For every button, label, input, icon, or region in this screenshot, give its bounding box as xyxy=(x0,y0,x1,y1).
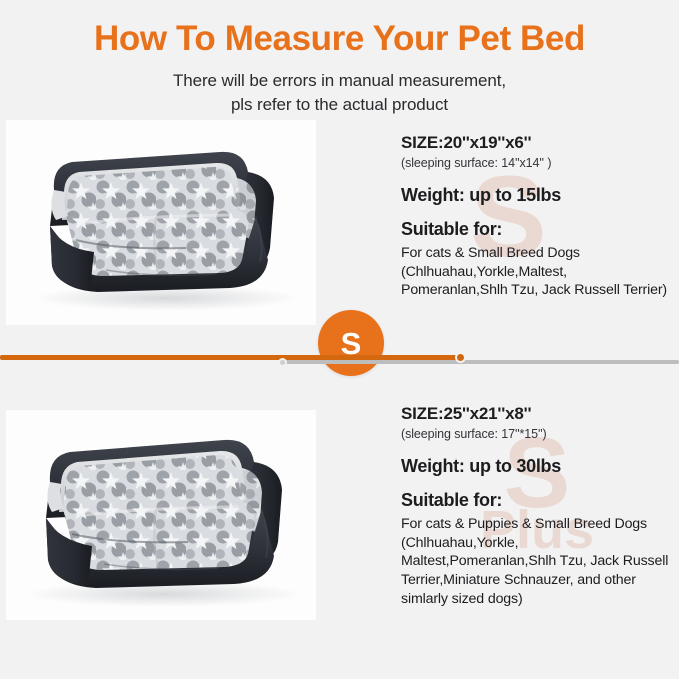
spec-sleeping-surface: (sleeping surface: 14''x14'' ) xyxy=(401,155,673,171)
spec-block-s: SIZE:20''x19''x6'' (sleeping surface: 14… xyxy=(401,132,673,300)
spec-suitable-label: Suitable for: xyxy=(401,219,673,241)
spec-size: SIZE:20''x19''x6'' xyxy=(401,132,673,153)
subtitle-line-1: There will be errors in manual measureme… xyxy=(0,69,679,93)
infographic-page: How To Measure Your Pet Bed There will b… xyxy=(0,0,679,679)
section-divider xyxy=(0,352,679,370)
pet-bed-illustration xyxy=(6,410,316,620)
pet-bed-illustration xyxy=(6,120,316,325)
spec-size: SIZE:25''x21''x8'' xyxy=(401,403,673,424)
product-image-s-plus xyxy=(6,410,316,620)
spec-block-s-plus: SIZE:25''x21''x8'' (sleeping surface: 17… xyxy=(401,403,673,609)
product-image-s xyxy=(6,120,316,325)
spec-weight: Weight: up to 15lbs xyxy=(401,185,673,207)
page-title: How To Measure Your Pet Bed xyxy=(0,20,679,59)
divider-gray-line xyxy=(278,360,679,364)
divider-orange-bar xyxy=(0,355,463,360)
header: How To Measure Your Pet Bed There will b… xyxy=(0,0,679,117)
divider-gray-knob-icon xyxy=(278,358,287,367)
divider-orange-knob-icon xyxy=(455,352,466,363)
spec-suitable-label: Suitable for: xyxy=(401,490,673,512)
spec-suitable-body: For cats & Small Breed Dogs (Chlhuahau,Y… xyxy=(401,244,673,301)
spec-sleeping-surface: (sleeping surface: 17''*15'') xyxy=(401,426,673,442)
page-subtitle: There will be errors in manual measureme… xyxy=(0,69,679,117)
subtitle-line-2: pls refer to the actual product xyxy=(0,93,679,117)
spec-suitable-body: For cats & Puppies & Small Breed Dogs (C… xyxy=(401,515,673,609)
spec-weight: Weight: up to 30lbs xyxy=(401,456,673,478)
